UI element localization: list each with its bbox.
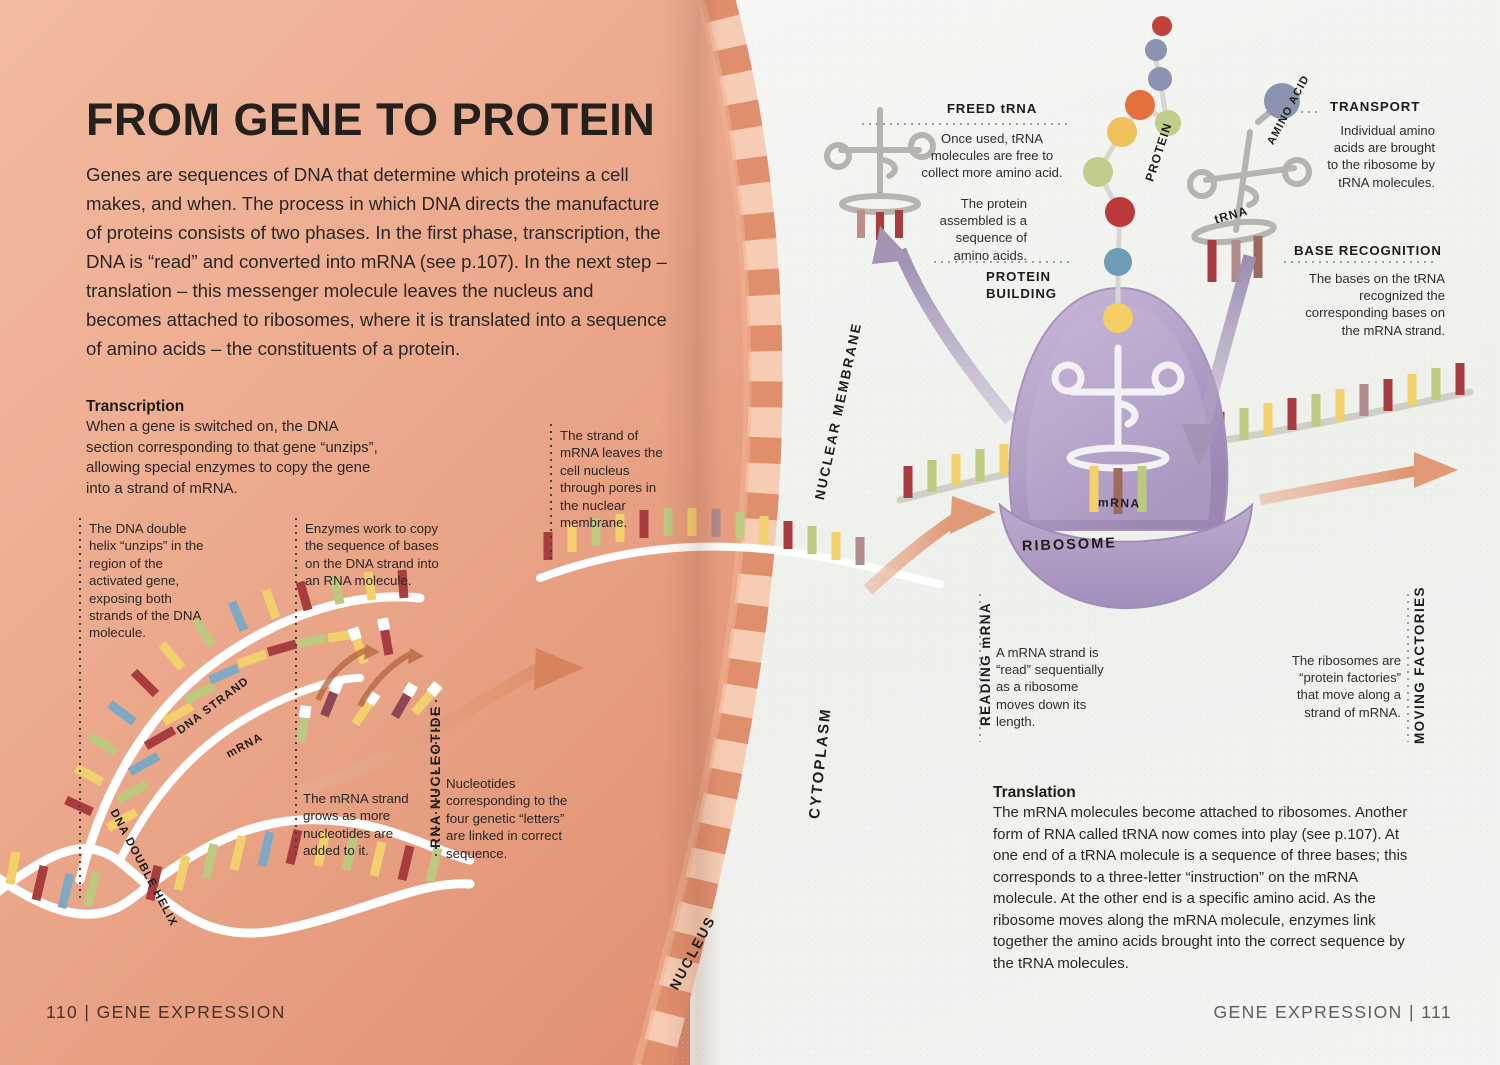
- callout-freed-trna-body: Once used, tRNA molecules are free to co…: [912, 130, 1072, 182]
- label-ribosome: RIBOSOME: [1022, 535, 1117, 554]
- callout-base-recognition-heading: BASE RECOGNITION: [1294, 242, 1454, 259]
- label-reading-mrna: READING mRNA: [978, 602, 993, 726]
- callout-protein-building-heading: PROTEIN BUILDING: [986, 268, 1086, 302]
- transcription-body: When a gene is switched on, the DNA sect…: [86, 417, 386, 499]
- intro-paragraph: Genes are sequences of DNA that determin…: [86, 160, 671, 363]
- callout-freed-trna: FREED tRNA: [912, 100, 1072, 117]
- label-moving-factories: MOVING FACTORIES: [1412, 586, 1427, 744]
- callout-transport-body: Individual amino acids are brought to th…: [1320, 122, 1435, 191]
- callout-base-recognition-body: The bases on the tRNA recognized the cor…: [1290, 270, 1445, 339]
- label-mrna-ribosome: mRNA: [1098, 495, 1141, 510]
- callout-reading-mrna-body: A mRNA strand is “read” sequentially as …: [996, 644, 1104, 730]
- book-spread: FROM GENE TO PROTEIN Genes are sequences…: [0, 0, 1500, 1065]
- translation-block: Translation The mRNA molecules become at…: [993, 784, 1423, 974]
- callout-dna-unzips: The DNA double helix “unzips” in the reg…: [89, 520, 209, 642]
- translation-body: The mRNA molecules become attached to ri…: [993, 802, 1423, 974]
- callout-transport-heading: TRANSPORT: [1330, 98, 1450, 115]
- transcription-heading: Transcription: [86, 398, 386, 416]
- callout-nucleotides-linked: Nucleotides corresponding to the four ge…: [446, 775, 574, 862]
- callout-moving-factories-body: The ribosomes are “protein factories” th…: [1283, 652, 1401, 721]
- callout-mrna-leaves: The strand of mRNA leaves the cell nucle…: [560, 427, 670, 531]
- transcription-block: Transcription When a gene is switched on…: [86, 398, 386, 499]
- translation-heading: Translation: [993, 784, 1423, 802]
- callout-protein-building-body: The protein assembled is a sequence of a…: [922, 195, 1027, 264]
- page-title: FROM GENE TO PROTEIN: [86, 94, 655, 146]
- callout-mrna-grows: The mRNA strand grows as more nucleotide…: [303, 790, 433, 860]
- folio-left: 110 | GENE EXPRESSION: [46, 1002, 286, 1023]
- label-rna-nucleotide: RNA NUCLEOTIDE: [428, 705, 443, 848]
- folio-right: GENE EXPRESSION | 111: [1213, 1002, 1452, 1023]
- callout-freed-trna-heading: FREED tRNA: [912, 100, 1072, 117]
- callout-enzymes-copy: Enzymes work to copy the sequence of bas…: [305, 520, 450, 590]
